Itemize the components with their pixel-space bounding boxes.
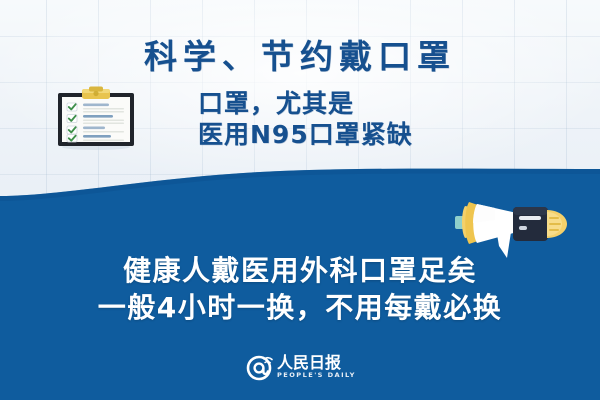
body-copy-block: 健康人戴医用外科口罩足矣 一般4小时一换，不用每戴必换 [0, 252, 600, 326]
logo-text-group: 人民日报 PEOPLE'S DAILY [277, 353, 354, 381]
clipboard-checklist-icon [52, 86, 140, 150]
logo-name-cn: 人民日报 [277, 354, 354, 371]
subtitle-block: 口罩，尤其是 医用N95口罩紧缺 [198, 88, 578, 150]
subtitle-line-2: 医用N95口罩紧缺 [198, 119, 578, 150]
logo-name-en: PEOPLE'S DAILY [277, 371, 356, 379]
peoples-daily-logo: 人民日报 PEOPLE'S DAILY [246, 352, 358, 382]
subtitle-line-1: 口罩，尤其是 [198, 88, 578, 119]
poster-canvas: 科学、节约戴口罩 [0, 0, 600, 400]
body-copy-line-2: 一般4小时一换，不用每戴必换 [0, 289, 600, 326]
page-title: 科学、节约戴口罩 [0, 30, 600, 78]
at-symbol-icon [246, 353, 274, 381]
body-copy-line-1: 健康人戴医用外科口罩足矣 [0, 252, 600, 289]
